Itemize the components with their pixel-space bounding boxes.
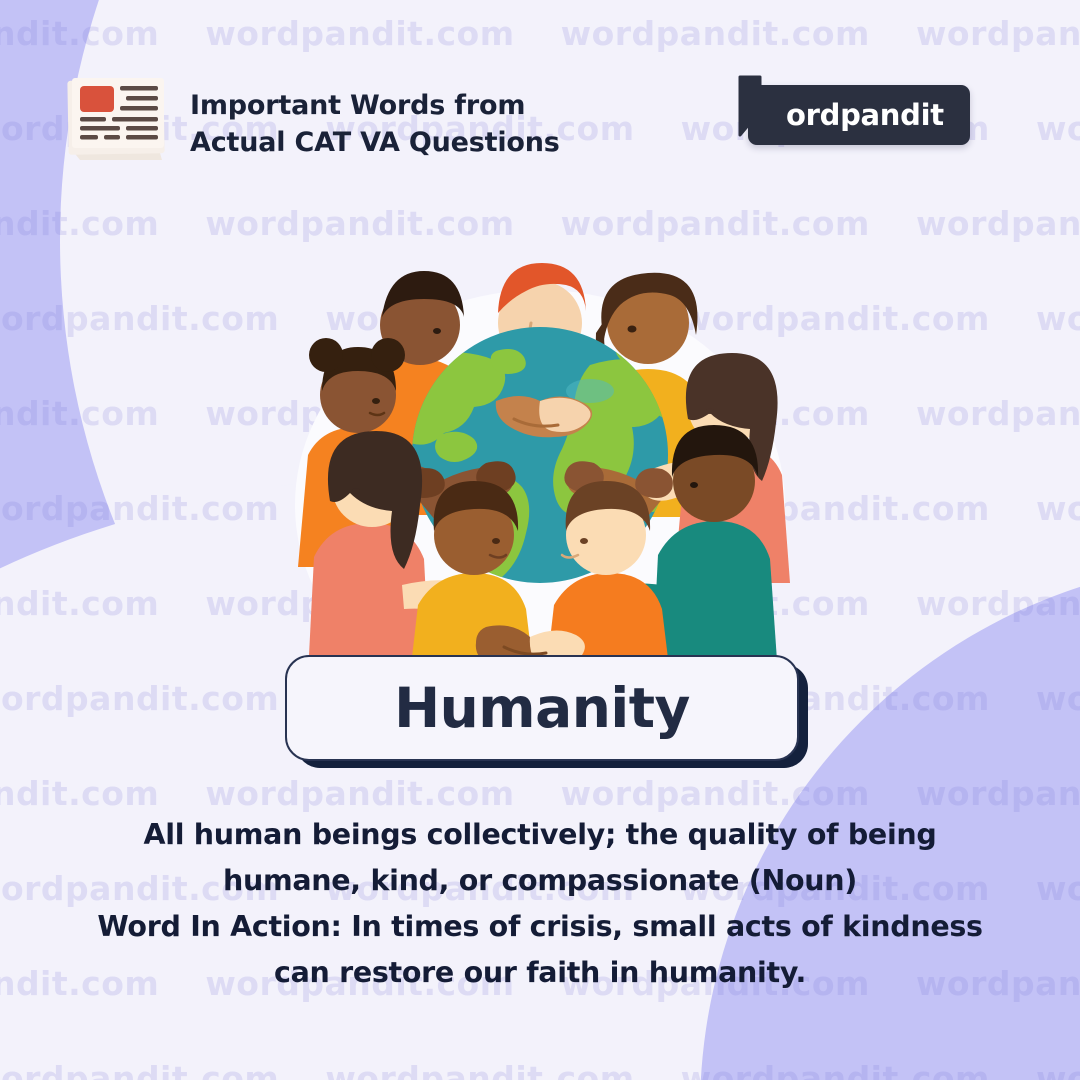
page-title: Important Words from Actual CAT VA Quest… — [190, 88, 560, 161]
definition-block: All human beings collectively; the quali… — [40, 812, 1040, 997]
page-title-line2: Actual CAT VA Questions — [190, 127, 560, 158]
newspaper-icon — [58, 72, 176, 168]
word-in-action-line-1: Word In Action: In times of crisis, smal… — [40, 904, 1040, 950]
header: Important Words from Actual CAT VA Quest… — [0, 0, 1080, 190]
logo-text: ordpandit — [786, 85, 944, 145]
page-title-line1: Important Words from — [190, 90, 525, 121]
word-card-label: Humanity — [394, 676, 690, 740]
word-in-action-line-2: can restore our faith in humanity. — [40, 950, 1040, 996]
definition-line-1: All human beings collectively; the quali… — [40, 812, 1040, 858]
illustration-people-around-globe — [290, 205, 790, 675]
word-card[interactable]: Humanity — [285, 655, 799, 761]
wordpandit-logo[interactable]: ordpandit — [748, 85, 970, 145]
bookmark-w-icon — [734, 75, 780, 139]
definition-line-2: humane, kind, or compassionate (Noun) — [40, 858, 1040, 904]
poster-canvas: wordpandit.comwordpandit.comwordpandit.c… — [0, 0, 1080, 1080]
